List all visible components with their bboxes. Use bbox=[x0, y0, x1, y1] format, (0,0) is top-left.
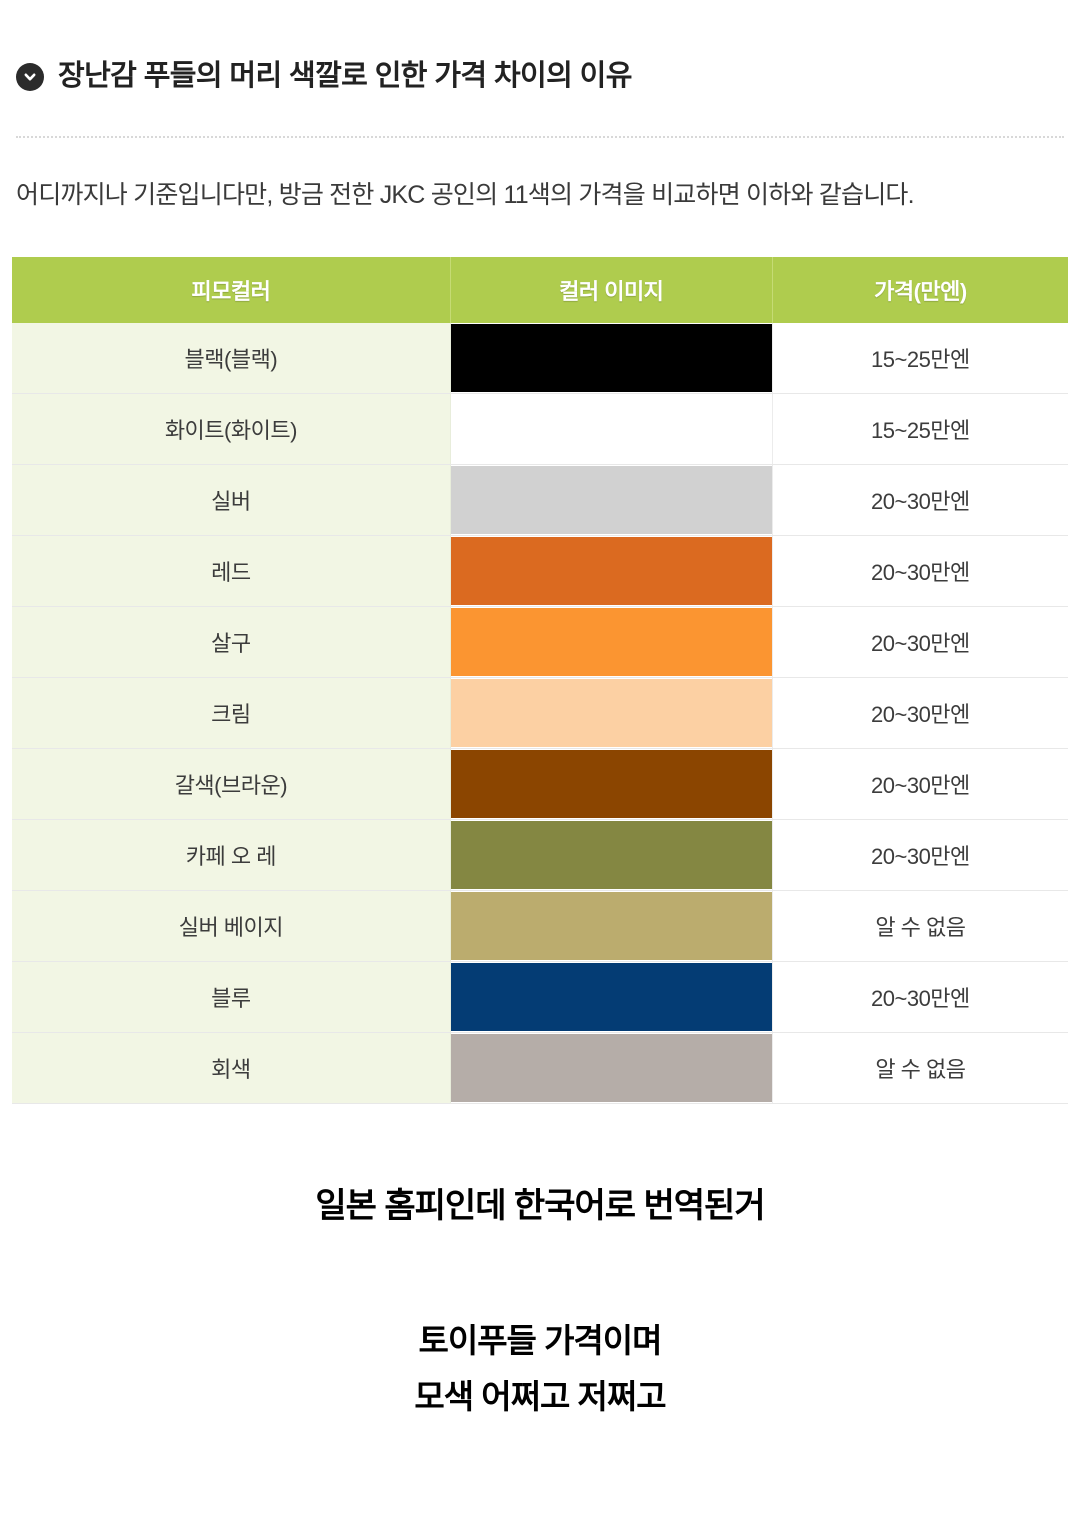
color-swatch bbox=[451, 608, 772, 676]
cell-color-name: 살구 bbox=[12, 606, 450, 677]
color-swatch bbox=[451, 821, 772, 889]
cell-color-name: 블랙(블랙) bbox=[12, 323, 450, 394]
color-swatch bbox=[451, 679, 772, 747]
color-swatch bbox=[451, 750, 772, 818]
cell-price: 20~30만엔 bbox=[772, 677, 1068, 748]
color-swatch bbox=[451, 1034, 772, 1102]
cell-price: 20~30만엔 bbox=[772, 748, 1068, 819]
cell-color-name: 실버 bbox=[12, 464, 450, 535]
table-header: 피모컬러 컬러 이미지 가격(만엔) bbox=[12, 257, 1068, 323]
cell-price: 20~30만엔 bbox=[772, 961, 1068, 1032]
color-swatch bbox=[451, 324, 772, 392]
table-row: 화이트(화이트)15~25만엔 bbox=[12, 393, 1068, 464]
table-row: 실버 베이지알 수 없음 bbox=[12, 890, 1068, 961]
table-row: 레드20~30만엔 bbox=[12, 535, 1068, 606]
comment-line-3: 모색 어쩌고 저쩌고 bbox=[0, 1369, 1080, 1425]
cell-color-swatch bbox=[450, 323, 772, 394]
cell-price: 20~30만엔 bbox=[772, 819, 1068, 890]
cell-price: 알 수 없음 bbox=[772, 1032, 1068, 1103]
table-row: 블루20~30만엔 bbox=[12, 961, 1068, 1032]
cell-color-swatch bbox=[450, 606, 772, 677]
cell-color-name: 회색 bbox=[12, 1032, 450, 1103]
cell-color-swatch bbox=[450, 961, 772, 1032]
color-price-table: 피모컬러 컬러 이미지 가격(만엔) 블랙(블랙)15~25만엔화이트(화이트)… bbox=[12, 257, 1068, 1104]
table-row: 회색알 수 없음 bbox=[12, 1032, 1068, 1103]
color-swatch bbox=[451, 466, 772, 534]
cell-color-name: 카페 오 레 bbox=[12, 819, 450, 890]
table-row: 갈색(브라운)20~30만엔 bbox=[12, 748, 1068, 819]
cell-color-swatch bbox=[450, 535, 772, 606]
cell-price: 20~30만엔 bbox=[772, 464, 1068, 535]
cell-color-name: 실버 베이지 bbox=[12, 890, 450, 961]
cell-color-swatch bbox=[450, 464, 772, 535]
cell-price: 15~25만엔 bbox=[772, 323, 1068, 394]
cell-color-name: 갈색(브라운) bbox=[12, 748, 450, 819]
cell-color-swatch bbox=[450, 393, 772, 464]
cell-color-swatch bbox=[450, 748, 772, 819]
cell-color-name: 블루 bbox=[12, 961, 450, 1032]
cell-color-swatch bbox=[450, 1032, 772, 1103]
cell-color-name: 레드 bbox=[12, 535, 450, 606]
comment-spacer bbox=[0, 1227, 1080, 1313]
cell-price: 20~30만엔 bbox=[772, 606, 1068, 677]
table-body: 블랙(블랙)15~25만엔화이트(화이트)15~25만엔실버20~30만엔레드2… bbox=[12, 323, 1068, 1104]
table-header-row: 피모컬러 컬러 이미지 가격(만엔) bbox=[12, 257, 1068, 323]
table-row: 카페 오 레20~30만엔 bbox=[12, 819, 1068, 890]
table-row: 살구20~30만엔 bbox=[12, 606, 1068, 677]
color-price-table-container: 피모컬러 컬러 이미지 가격(만엔) 블랙(블랙)15~25만엔화이트(화이트)… bbox=[12, 257, 1068, 1104]
color-swatch bbox=[451, 963, 772, 1031]
color-swatch bbox=[451, 537, 772, 605]
check-circle-icon bbox=[16, 63, 44, 91]
cell-color-swatch bbox=[450, 819, 772, 890]
color-swatch bbox=[451, 892, 772, 960]
post-header: 장난감 푸들의 머리 색깔로 인한 가격 차이의 이유 bbox=[0, 0, 1080, 114]
intro-paragraph: 어디까지나 기준입니다만, 방금 전한 JKC 공인의 11색의 가격을 비교하… bbox=[16, 178, 1064, 213]
comment-block: 일본 홈피인데 한국어로 번역된거 토이푸들 가격이며 모색 어쩌고 저쩌고 bbox=[0, 1178, 1080, 1425]
table-row: 실버20~30만엔 bbox=[12, 464, 1068, 535]
cell-color-swatch bbox=[450, 677, 772, 748]
cell-price: 알 수 없음 bbox=[772, 890, 1068, 961]
column-header-color-name: 피모컬러 bbox=[12, 257, 450, 323]
cell-price: 20~30만엔 bbox=[772, 535, 1068, 606]
comment-line-1: 일본 홈피인데 한국어로 번역된거 bbox=[0, 1178, 1080, 1227]
cell-color-name: 크림 bbox=[12, 677, 450, 748]
table-row: 블랙(블랙)15~25만엔 bbox=[12, 323, 1068, 394]
color-swatch bbox=[451, 395, 772, 463]
table-row: 크림20~30만엔 bbox=[12, 677, 1068, 748]
header-divider bbox=[16, 136, 1064, 138]
cell-color-swatch bbox=[450, 890, 772, 961]
column-header-color-image: 컬러 이미지 bbox=[450, 257, 772, 323]
cell-price: 15~25만엔 bbox=[772, 393, 1068, 464]
page-title: 장난감 푸들의 머리 색깔로 인한 가격 차이의 이유 bbox=[58, 59, 632, 94]
column-header-price: 가격(만엔) bbox=[772, 257, 1068, 323]
cell-color-name: 화이트(화이트) bbox=[12, 393, 450, 464]
comment-line-2: 토이푸들 가격이며 bbox=[0, 1313, 1080, 1369]
